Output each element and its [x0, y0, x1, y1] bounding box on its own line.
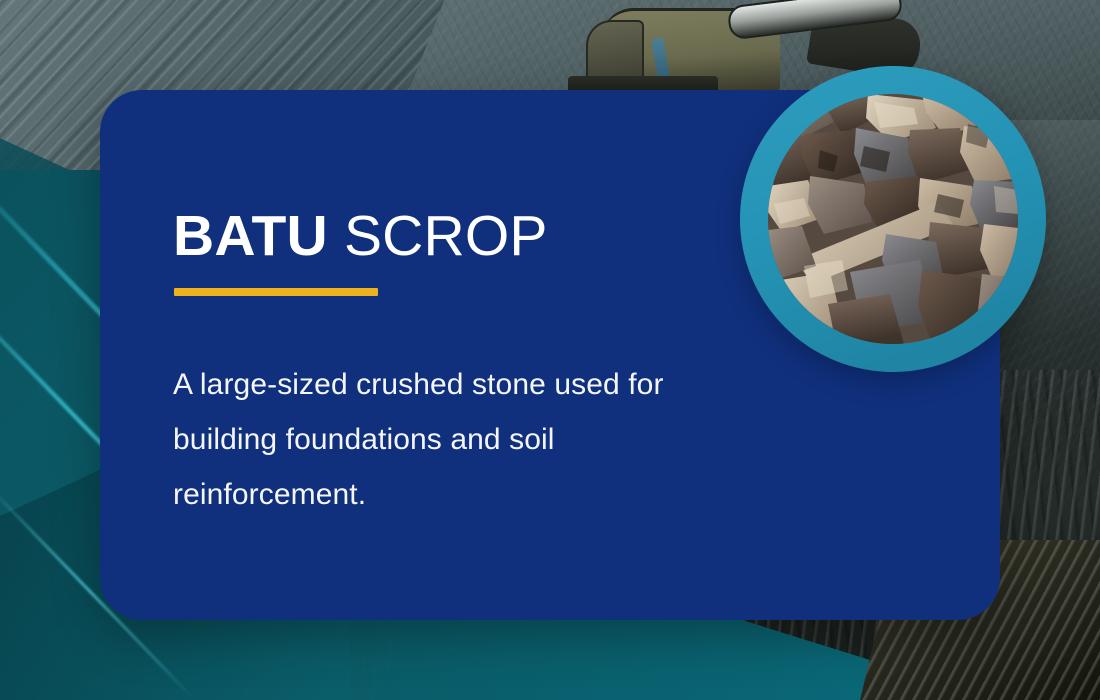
title-strong: BATU [173, 204, 328, 268]
promo-card-screenshot: BATU SCROP A large-sized crushed stone u… [0, 0, 1100, 700]
product-thumbnail[interactable] [740, 66, 1046, 372]
crushed-stone-icon [768, 94, 1018, 344]
description-text: A large-sized crushed stone used for bui… [173, 357, 713, 522]
crushed-stone-photo [768, 94, 1018, 344]
page-title: BATU SCROP [173, 208, 548, 265]
title-accent-rule [174, 288, 378, 296]
title-light: SCROP [344, 204, 548, 268]
